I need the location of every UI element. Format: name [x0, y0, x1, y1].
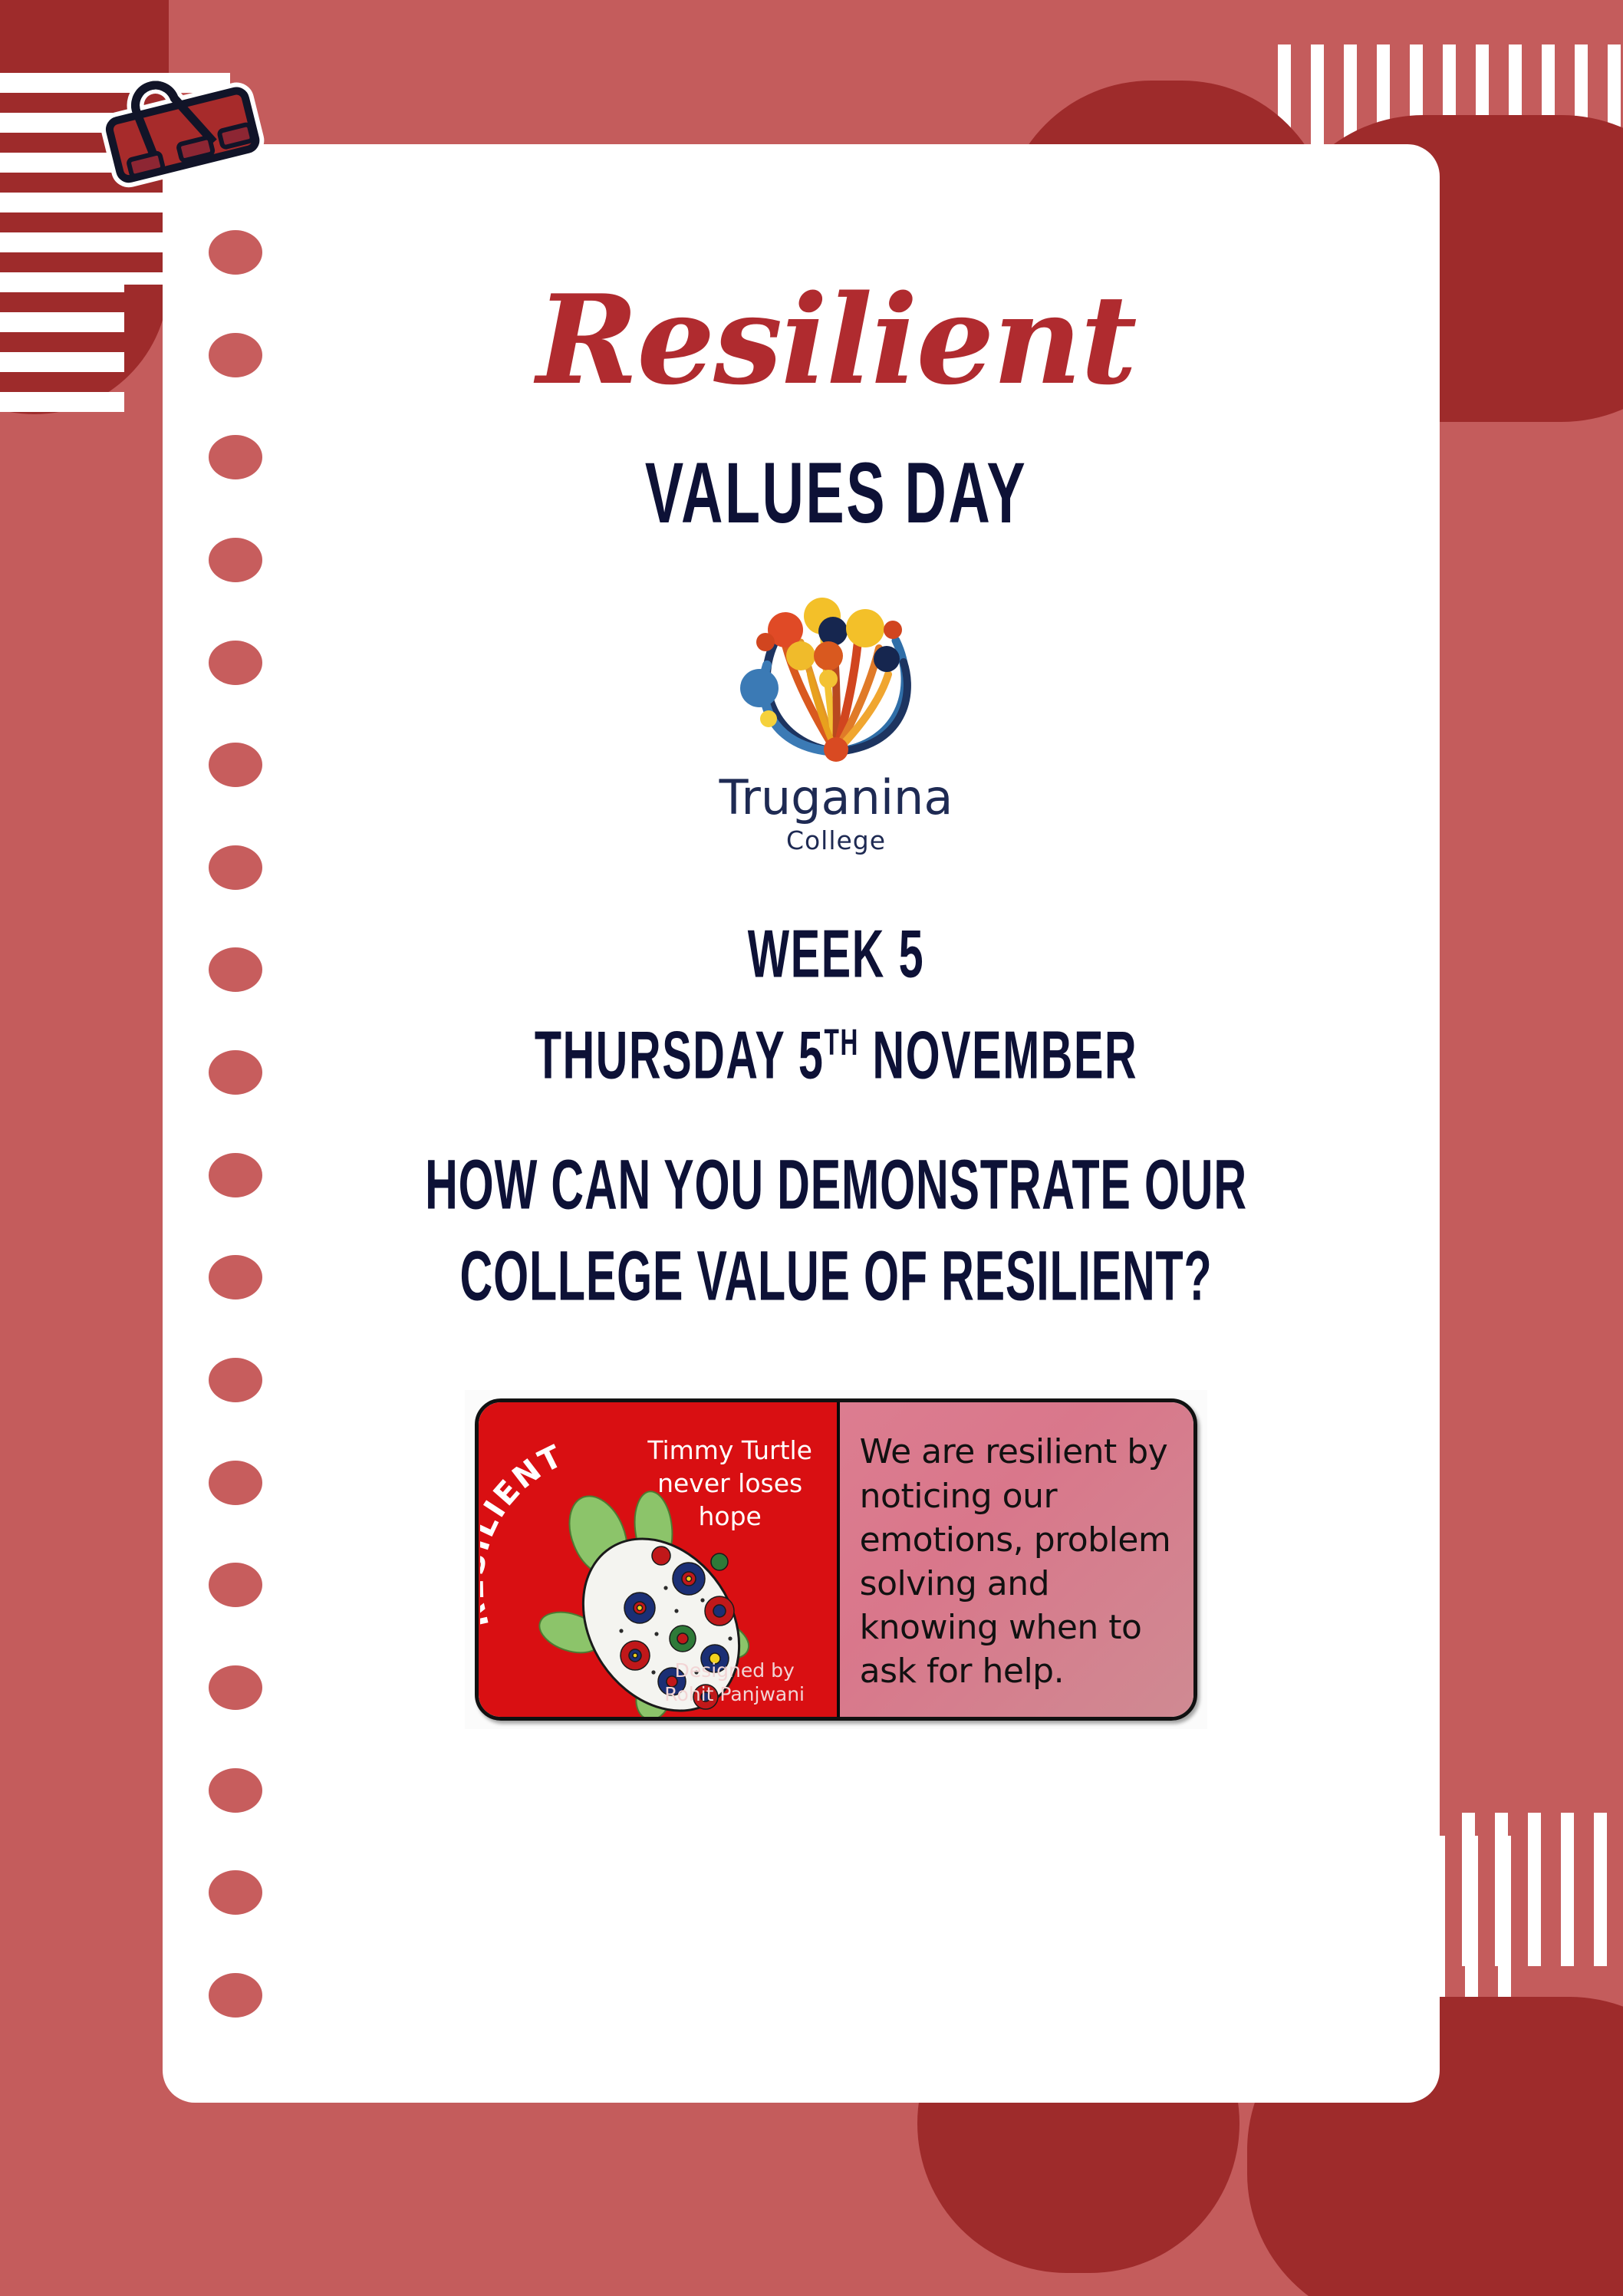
- timmy-line-1: Timmy Turtle: [634, 1435, 826, 1468]
- value-statement: We are resilient by noticing our emotion…: [860, 1430, 1178, 1693]
- poster-canvas: Resilient VALUES DAY: [0, 0, 1623, 2296]
- poster-content: Resilient VALUES DAY: [291, 144, 1381, 2103]
- dot: [209, 1973, 262, 2018]
- bottom-right-stripes-outer: [1462, 1813, 1623, 1966]
- dot: [209, 743, 262, 787]
- credit-line-2: Rohit Panjwani: [647, 1682, 823, 1706]
- dot: [209, 230, 262, 275]
- top-left-red-block: [0, 0, 169, 414]
- date-ordinal: TH: [825, 1022, 859, 1063]
- dot: [209, 1563, 262, 1607]
- week-label: WEEK 5: [400, 921, 1272, 988]
- value-card-right-panel: We are resilient by noticing our emotion…: [840, 1402, 1193, 1717]
- logo-burst-icon: [721, 595, 951, 771]
- dot: [209, 1870, 262, 1915]
- timmy-line-2: never loses: [634, 1468, 826, 1500]
- dot: [209, 1050, 262, 1095]
- credit-line-1: Designed by: [647, 1659, 823, 1682]
- timmy-line-3: hope: [634, 1500, 826, 1533]
- logo-wordmark: Truganina: [719, 774, 953, 822]
- timmy-turtle-text: Timmy Turtle never loses hope: [634, 1435, 826, 1533]
- question-line-2: COLLEGE VALUE OF RESILIENT?: [400, 1230, 1272, 1322]
- dot: [209, 1461, 262, 1505]
- page-title-script: Resilient: [291, 278, 1381, 401]
- dot: [209, 538, 262, 582]
- dot: [209, 1255, 262, 1300]
- question-line-1: HOW CAN YOU DEMONSTRATE OUR: [400, 1139, 1272, 1230]
- dot-column: [201, 230, 270, 2018]
- dot: [209, 1153, 262, 1197]
- date-label: THURSDAY 5TH NOVEMBER: [400, 1022, 1272, 1089]
- value-card-left-panel: RESILIENT: [479, 1402, 840, 1717]
- dot: [209, 1768, 262, 1813]
- resilient-value-card: RESILIENT: [465, 1390, 1207, 1729]
- dot: [209, 1358, 262, 1402]
- date-prefix: THURSDAY 5: [535, 1018, 825, 1093]
- dot: [209, 947, 262, 992]
- dot: [209, 435, 262, 479]
- values-day-heading: VALUES DAY: [390, 450, 1282, 536]
- dot: [209, 845, 262, 890]
- value-card: RESILIENT: [475, 1398, 1197, 1721]
- logo-subtext: College: [786, 828, 886, 853]
- question-text: HOW CAN YOU DEMONSTRATE OUR COLLEGE VALU…: [400, 1139, 1272, 1323]
- designer-credit: Designed by Rohit Panjwani: [647, 1659, 823, 1706]
- dot: [209, 1665, 262, 1710]
- truganina-college-logo: Truganina College: [291, 595, 1381, 853]
- dot: [209, 641, 262, 685]
- date-suffix: NOVEMBER: [859, 1018, 1137, 1093]
- dot: [209, 333, 262, 377]
